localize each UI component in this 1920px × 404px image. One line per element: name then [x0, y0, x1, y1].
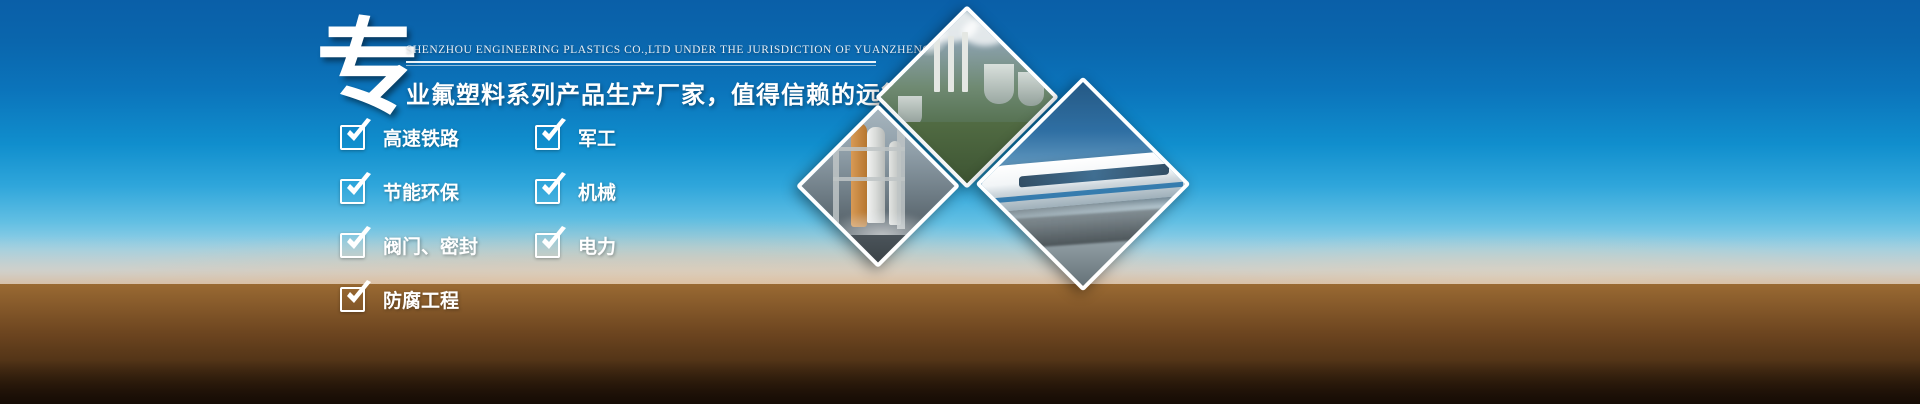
list-item: 电力 — [535, 228, 616, 262]
divider — [406, 61, 876, 66]
checkmark-glyph — [538, 226, 568, 256]
banner-content: 专 SHENZHOU ENGINEERING PLASTICS CO.,LTD … — [0, 0, 900, 404]
checkmark-glyph — [343, 280, 373, 310]
rocket-body — [867, 127, 885, 223]
checklist-column-right: 军工 机械 电力 — [535, 120, 616, 282]
logo-character: 专 — [316, 16, 420, 120]
check-icon — [340, 179, 365, 204]
photo-collage — [810, 20, 1270, 310]
list-item-label: 防腐工程 — [383, 286, 459, 313]
checkmark-glyph — [538, 118, 568, 148]
list-item: 机械 — [535, 174, 616, 208]
checkmark-glyph — [343, 226, 373, 256]
list-item-label: 机械 — [578, 178, 616, 205]
list-item-label: 电力 — [578, 232, 616, 259]
divider-line-secondary — [406, 65, 876, 66]
checkmark-glyph — [343, 118, 373, 148]
list-item: 节能环保 — [340, 174, 478, 208]
company-english-name: SHENZHOU ENGINEERING PLASTICS CO.,LTD UN… — [406, 44, 876, 56]
headline-block: SHENZHOU ENGINEERING PLASTICS CO.,LTD UN… — [406, 44, 876, 110]
railway-track — [976, 206, 1191, 251]
divider-line-primary — [406, 61, 876, 63]
checklist-column-left: 高速铁路 节能环保 阀门、密封 — [340, 120, 478, 336]
list-item-label: 节能环保 — [383, 178, 459, 205]
list-item-label: 高速铁路 — [383, 124, 459, 151]
hero-banner: 专 SHENZHOU ENGINEERING PLASTICS CO.,LTD … — [0, 0, 1920, 404]
list-item: 防腐工程 — [340, 282, 478, 316]
list-item: 高速铁路 — [340, 120, 478, 154]
checkmark-glyph — [343, 172, 373, 202]
rocket-tank — [851, 123, 867, 227]
list-item-label: 阀门、密封 — [383, 232, 478, 259]
check-icon — [340, 287, 365, 312]
list-item-label: 军工 — [578, 124, 616, 151]
slogan-text: 业氟塑料系列产品生产厂家，值得信赖的远征品牌 — [406, 75, 876, 110]
check-icon — [340, 125, 365, 150]
check-icon — [535, 179, 560, 204]
check-icon — [340, 233, 365, 258]
checkmark-glyph — [538, 172, 568, 202]
list-item: 军工 — [535, 120, 616, 154]
list-item: 阀门、密封 — [340, 228, 478, 262]
check-icon — [535, 125, 560, 150]
check-icon — [535, 233, 560, 258]
